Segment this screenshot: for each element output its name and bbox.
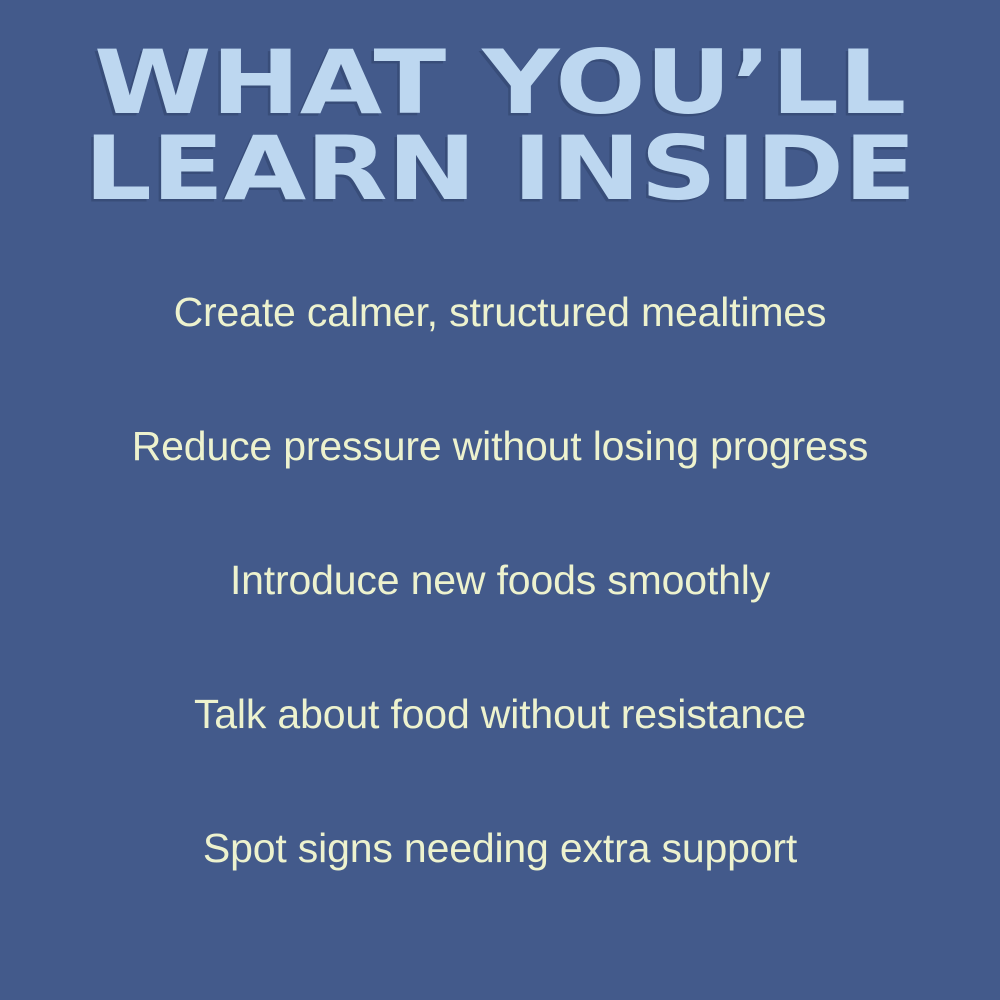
heading-line-2: LEARN INSIDE: [0, 130, 1000, 210]
poster-canvas: WHAT YOU’LL LEARN INSIDE Create calmer, …: [0, 0, 1000, 1000]
list-item: Talk about food without resistance: [0, 690, 1000, 824]
list-item: Create calmer, structured mealtimes: [0, 288, 1000, 422]
list-item: Introduce new foods smoothly: [0, 556, 1000, 690]
heading-line-1: WHAT YOU’LL: [0, 44, 1000, 124]
learning-points-list: Create calmer, structured mealtimes Redu…: [0, 288, 1000, 958]
list-item: Reduce pressure without losing progress: [0, 422, 1000, 556]
page-title: WHAT YOU’LL LEARN INSIDE: [0, 44, 1000, 204]
list-item: Spot signs needing extra support: [0, 824, 1000, 958]
